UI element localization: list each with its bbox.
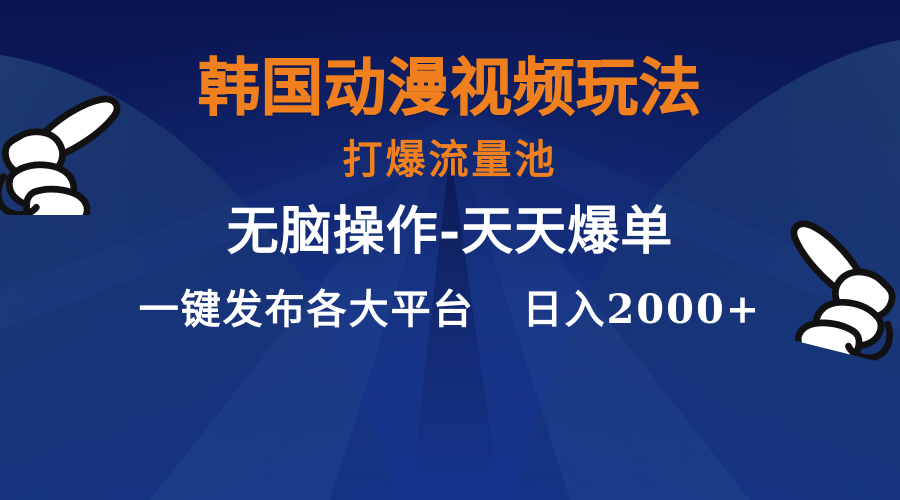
promo-poster: 韩国动漫视频玩法 打爆流量池 无脑操作-天天爆单 一键发布各大平台 日入2000…	[0, 0, 900, 500]
poster-background	[0, 0, 900, 500]
pointing-hand-icon	[0, 80, 127, 215]
